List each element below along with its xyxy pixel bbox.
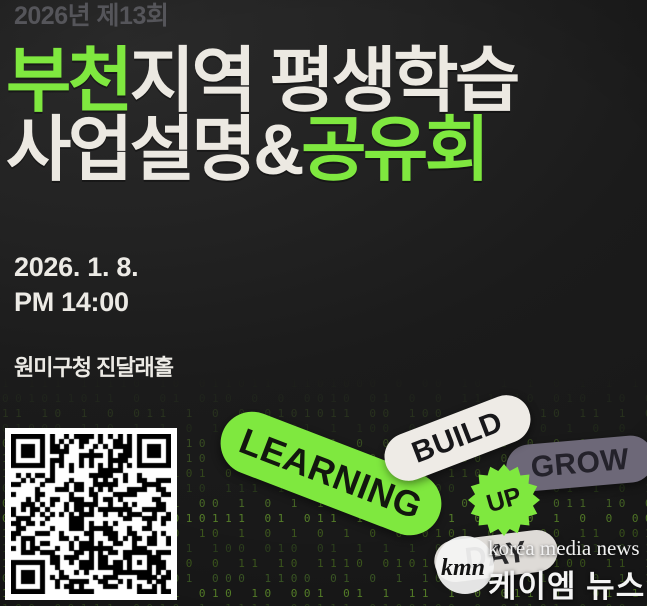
headline-line-1-white: 지역 평생학습 [130,42,517,121]
event-venue: 원미구청 진달래홀 [14,350,173,382]
headline-line-2-green: 공유회 [301,111,486,190]
headline-line-2: 사업설명&공유회 [6,117,638,184]
headline-line-1-green: 부천 [6,42,130,121]
event-info: 2026. 1. 8. PM 14:00 원미구청 진달래홀 [14,250,173,382]
poster-headline: 부천지역 평생학습 사업설명&공유회 [6,48,638,185]
headline-line-2-white: 사업설명& [6,111,301,190]
event-date: 2026. 1. 8. [14,250,173,285]
event-poster: 1 111 11110 10 011011 1101000 0 00 10 1 … [0,0,647,606]
badge-up: UP [468,464,540,536]
poster-kicker: 2026년 제13회 [14,0,168,32]
event-time: PM 14:00 [14,285,173,320]
qr-code[interactable] [5,428,177,600]
headline-line-1: 부천지역 평생학습 [6,48,638,115]
qr-code-image [11,434,171,594]
